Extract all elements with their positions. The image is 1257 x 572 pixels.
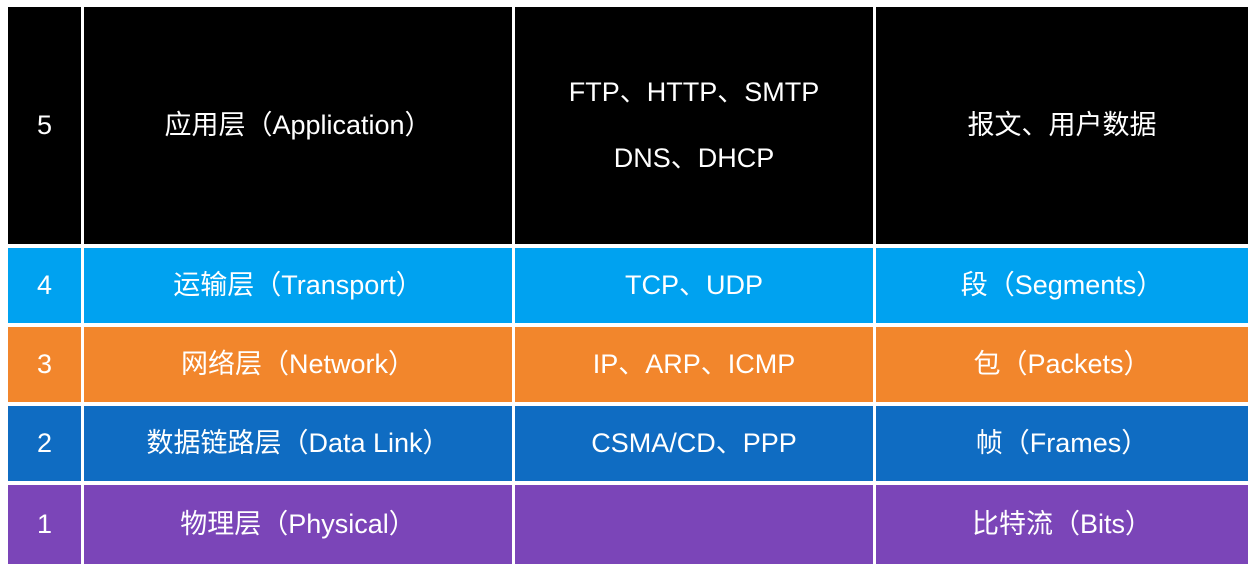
layer-number-cell: 5 — [8, 7, 84, 244]
layer-name: 应用层（Application） — [164, 106, 431, 145]
layer-data-unit-cell: 帧（Frames） — [876, 406, 1248, 481]
layer-data-unit-cell: 比特流（Bits） — [876, 485, 1248, 564]
table-row-datalink: 2 数据链路层（Data Link） CSMA/CD、PPP 帧（Frames） — [8, 406, 1248, 485]
table-row-network: 3 网络层（Network） IP、ARP、ICMP 包（Packets） — [8, 327, 1248, 406]
layer-data-unit: 比特流（Bits） — [972, 505, 1152, 544]
osi-layer-table: 5 应用层（Application） FTP、HTTP、SMTP DNS、DHC… — [8, 7, 1248, 564]
layer-data-unit-cell: 报文、用户数据 — [876, 7, 1248, 244]
layer-name-cell: 运输层（Transport） — [84, 248, 515, 323]
layer-protocols-cell — [515, 485, 876, 564]
table-row-physical: 1 物理层（Physical） 比特流（Bits） — [8, 485, 1248, 564]
layer-name: 运输层（Transport） — [173, 266, 423, 305]
layer-name-cell: 网络层（Network） — [84, 327, 515, 402]
layer-number: 3 — [37, 345, 52, 384]
layer-protocols-cell: FTP、HTTP、SMTP DNS、DHCP — [515, 7, 876, 244]
layer-data-unit: 帧（Frames） — [976, 424, 1149, 463]
layer-number-cell: 4 — [8, 248, 84, 323]
layer-number-cell: 2 — [8, 406, 84, 481]
table-row-transport: 4 运输层（Transport） TCP、UDP 段（Segments） — [8, 248, 1248, 327]
layer-number-cell: 3 — [8, 327, 84, 402]
layer-protocol-line: TCP、UDP — [625, 266, 763, 305]
layer-name-cell: 物理层（Physical） — [84, 485, 515, 564]
layer-number: 4 — [37, 266, 52, 305]
layer-protocol-line: FTP、HTTP、SMTP — [569, 73, 820, 112]
layer-number: 1 — [37, 505, 52, 544]
layer-data-unit: 报文、用户数据 — [968, 106, 1157, 145]
layer-name: 网络层（Network） — [181, 345, 415, 384]
layer-protocols-cell: TCP、UDP — [515, 248, 876, 323]
table-row-application: 5 应用层（Application） FTP、HTTP、SMTP DNS、DHC… — [8, 7, 1248, 248]
layer-protocols-cell: CSMA/CD、PPP — [515, 406, 876, 481]
layer-name-cell: 应用层（Application） — [84, 7, 515, 244]
layer-number: 5 — [37, 106, 52, 145]
layer-data-unit-cell: 段（Segments） — [876, 248, 1248, 323]
layer-protocols-cell: IP、ARP、ICMP — [515, 327, 876, 402]
layer-data-unit-cell: 包（Packets） — [876, 327, 1248, 402]
layer-number: 2 — [37, 424, 52, 463]
layer-name: 数据链路层（Data Link） — [146, 424, 449, 463]
layer-protocol-line: CSMA/CD、PPP — [591, 424, 797, 463]
layer-protocol-line: IP、ARP、ICMP — [593, 345, 796, 384]
layer-data-unit: 包（Packets） — [973, 345, 1150, 384]
layer-name-cell: 数据链路层（Data Link） — [84, 406, 515, 481]
layer-data-unit: 段（Segments） — [961, 266, 1164, 305]
layer-protocol-line: DNS、DHCP — [614, 139, 775, 178]
layer-number-cell: 1 — [8, 485, 84, 564]
layer-name: 物理层（Physical） — [180, 505, 416, 544]
